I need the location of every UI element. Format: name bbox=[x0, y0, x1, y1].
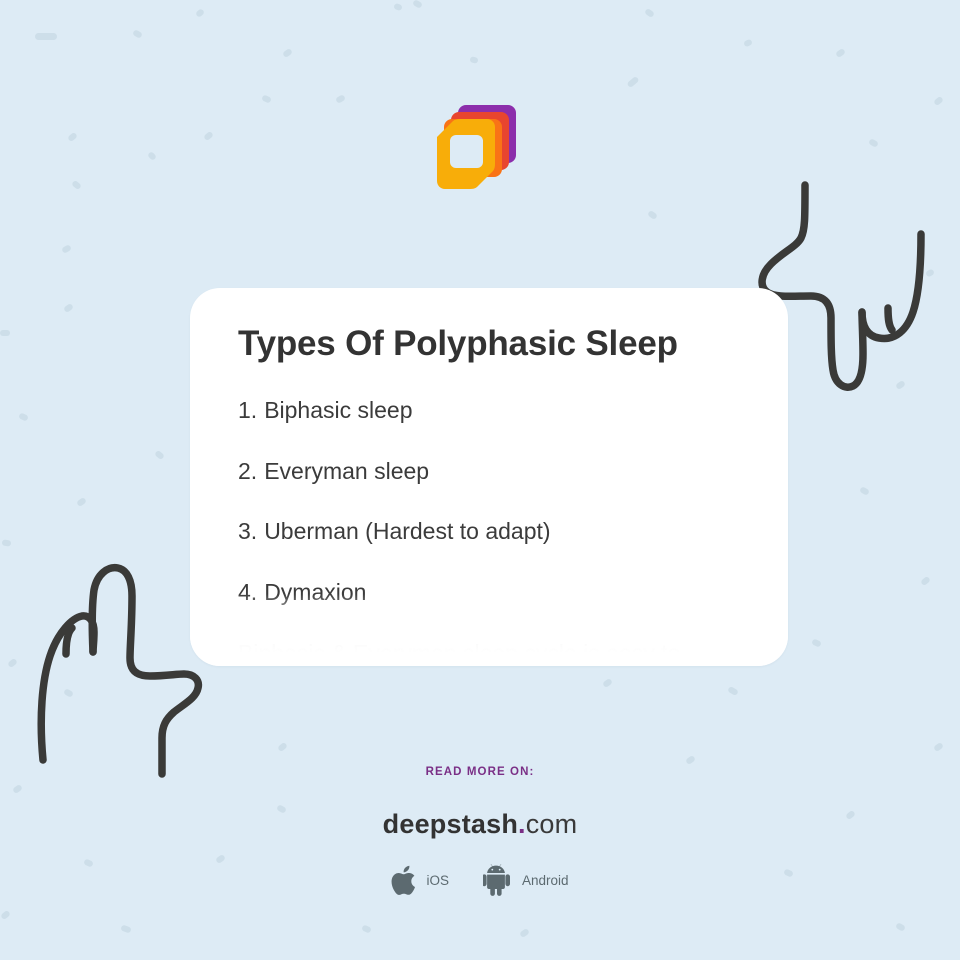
speckle-dash bbox=[933, 742, 944, 752]
poster-canvas: Types Of Polyphasic Sleep 1.Biphasic sle… bbox=[0, 0, 960, 960]
speckle-dash bbox=[0, 910, 11, 920]
speckle-dash bbox=[685, 755, 696, 765]
speckle-dash bbox=[925, 268, 935, 277]
speckle-dash bbox=[335, 94, 346, 104]
speckle-dash bbox=[811, 638, 822, 647]
speckle-dash bbox=[61, 244, 72, 254]
speckle-dash bbox=[282, 48, 293, 58]
wordmark-dot: . bbox=[518, 809, 526, 839]
speckle-dash bbox=[519, 928, 530, 938]
speckle-dash bbox=[412, 0, 423, 9]
read-more-label: READ MORE ON: bbox=[0, 766, 960, 778]
speckle-dash bbox=[743, 39, 753, 48]
speckle-dash bbox=[67, 132, 78, 142]
card-teaser-text: Biphasic & Everyman sleep cycle is easy … bbox=[238, 640, 740, 666]
speckle-dash bbox=[147, 151, 157, 161]
speckle-dash bbox=[18, 412, 29, 421]
sleep-type-item-number: 4. bbox=[238, 579, 257, 605]
sleep-type-item-label: Dymaxion bbox=[264, 579, 366, 605]
ios-label: iOS bbox=[426, 873, 449, 888]
deepstash-wordmark[interactable]: deepstash.com bbox=[0, 809, 960, 840]
sleep-type-item-label: Biphasic sleep bbox=[264, 397, 412, 423]
speckle-dash bbox=[132, 29, 143, 39]
speckle-dash bbox=[868, 138, 879, 148]
speckle-dash bbox=[195, 8, 205, 18]
speckle-dash bbox=[277, 742, 288, 752]
sleep-type-item-number: 2. bbox=[238, 458, 257, 484]
polyphasic-sleep-type-list: 1.Biphasic sleep2.Everyman sleep3.Uberma… bbox=[238, 364, 740, 606]
speckle-dash bbox=[626, 76, 639, 88]
sleep-type-item: 2.Everyman sleep bbox=[238, 425, 740, 486]
speckle-dash bbox=[895, 380, 906, 390]
speckle-dash bbox=[261, 94, 272, 103]
sleep-type-item: 4.Dymaxion bbox=[238, 546, 740, 607]
speckle-dash bbox=[647, 210, 658, 220]
sleep-type-item-number: 1. bbox=[238, 397, 257, 423]
content-card: Types Of Polyphasic Sleep 1.Biphasic sle… bbox=[190, 288, 788, 666]
sleep-type-item: 1.Biphasic sleep bbox=[238, 364, 740, 425]
sleep-type-item-label: Uberman (Hardest to adapt) bbox=[264, 518, 550, 544]
speckle-dash bbox=[71, 180, 82, 190]
speckle-dash bbox=[933, 96, 944, 106]
sleep-type-item-number: 3. bbox=[238, 518, 257, 544]
android-store-badge[interactable]: Android bbox=[483, 864, 569, 896]
speckle-dash bbox=[393, 3, 403, 11]
speckle-dash bbox=[602, 678, 613, 688]
wordmark-name: deepstash bbox=[383, 809, 518, 839]
speckle-dash bbox=[895, 922, 906, 932]
speckle-dash bbox=[35, 33, 57, 40]
speckle-dash bbox=[361, 924, 372, 933]
android-label: Android bbox=[522, 873, 569, 888]
app-store-badges: iOS Android bbox=[0, 864, 960, 896]
card-title: Types Of Polyphasic Sleep bbox=[238, 324, 740, 364]
deepstash-logo bbox=[428, 104, 518, 196]
speckle-dash bbox=[835, 48, 846, 58]
speckle-dash bbox=[920, 576, 931, 586]
speckle-dash bbox=[203, 131, 214, 141]
wordmark-tld: com bbox=[526, 809, 578, 839]
android-icon bbox=[483, 864, 513, 896]
hand-illustration-left-icon bbox=[26, 560, 206, 788]
apple-icon bbox=[391, 865, 417, 896]
speckle-dash bbox=[727, 686, 739, 696]
speckle-dash bbox=[7, 658, 18, 668]
speckle-dash bbox=[2, 539, 12, 546]
speckle-dash bbox=[63, 688, 74, 698]
speckle-dash bbox=[76, 497, 87, 507]
speckle-dash bbox=[0, 330, 10, 336]
speckle-dash bbox=[644, 8, 655, 18]
ios-store-badge[interactable]: iOS bbox=[391, 865, 449, 896]
speckle-dash bbox=[120, 924, 131, 933]
logo-cutout bbox=[450, 135, 483, 168]
speckle-dash bbox=[859, 486, 870, 496]
footer: READ MORE ON: deepstash.com iOS bbox=[0, 766, 960, 896]
speckle-dash bbox=[469, 56, 478, 64]
speckle-dash bbox=[63, 303, 74, 313]
speckle-dash bbox=[154, 450, 165, 460]
sleep-type-item-label: Everyman sleep bbox=[264, 458, 429, 484]
sleep-type-item: 3.Uberman (Hardest to adapt) bbox=[238, 485, 740, 546]
